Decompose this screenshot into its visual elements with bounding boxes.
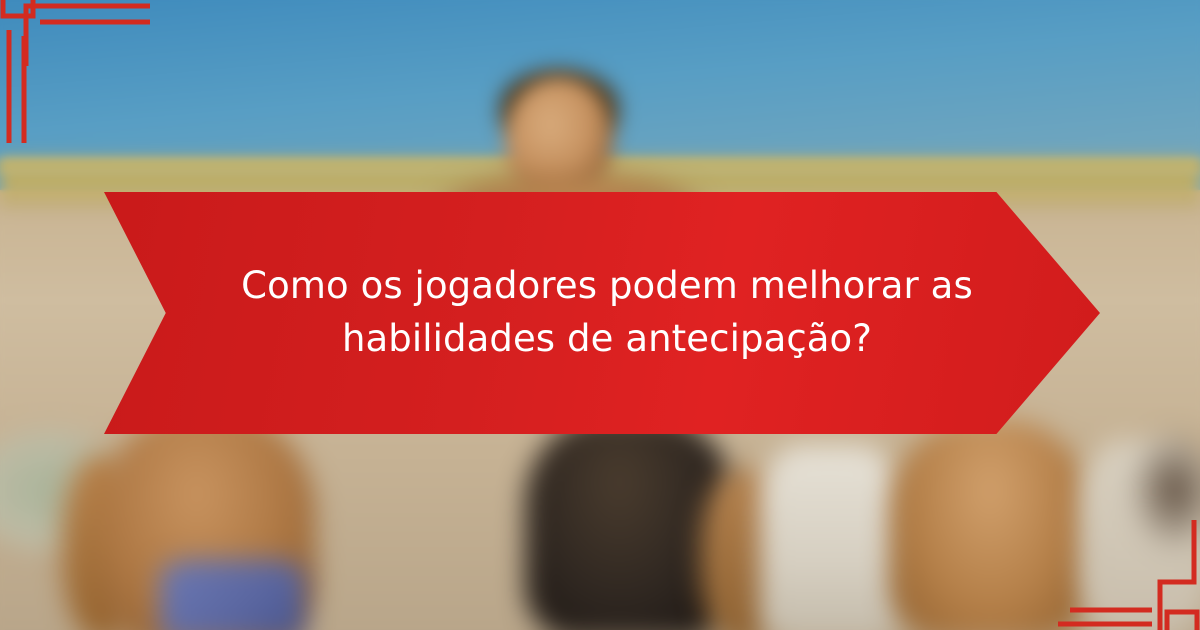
headline-line-1: Como os jogadores podem melhorar as: [227, 260, 987, 313]
headline-line-2: habilidades de antecipação?: [227, 313, 987, 366]
headline-text: Como os jogadores podem melhorar as habi…: [227, 260, 987, 365]
foreground-figure-left-shorts: [160, 560, 305, 630]
foreground-figure-right: [890, 420, 1090, 630]
headline-banner: Como os jogadores podem melhorar as habi…: [104, 192, 1100, 434]
foreground-figure-white: [760, 445, 900, 630]
banner-canvas: Como os jogadores podem melhorar as habi…: [0, 0, 1200, 630]
